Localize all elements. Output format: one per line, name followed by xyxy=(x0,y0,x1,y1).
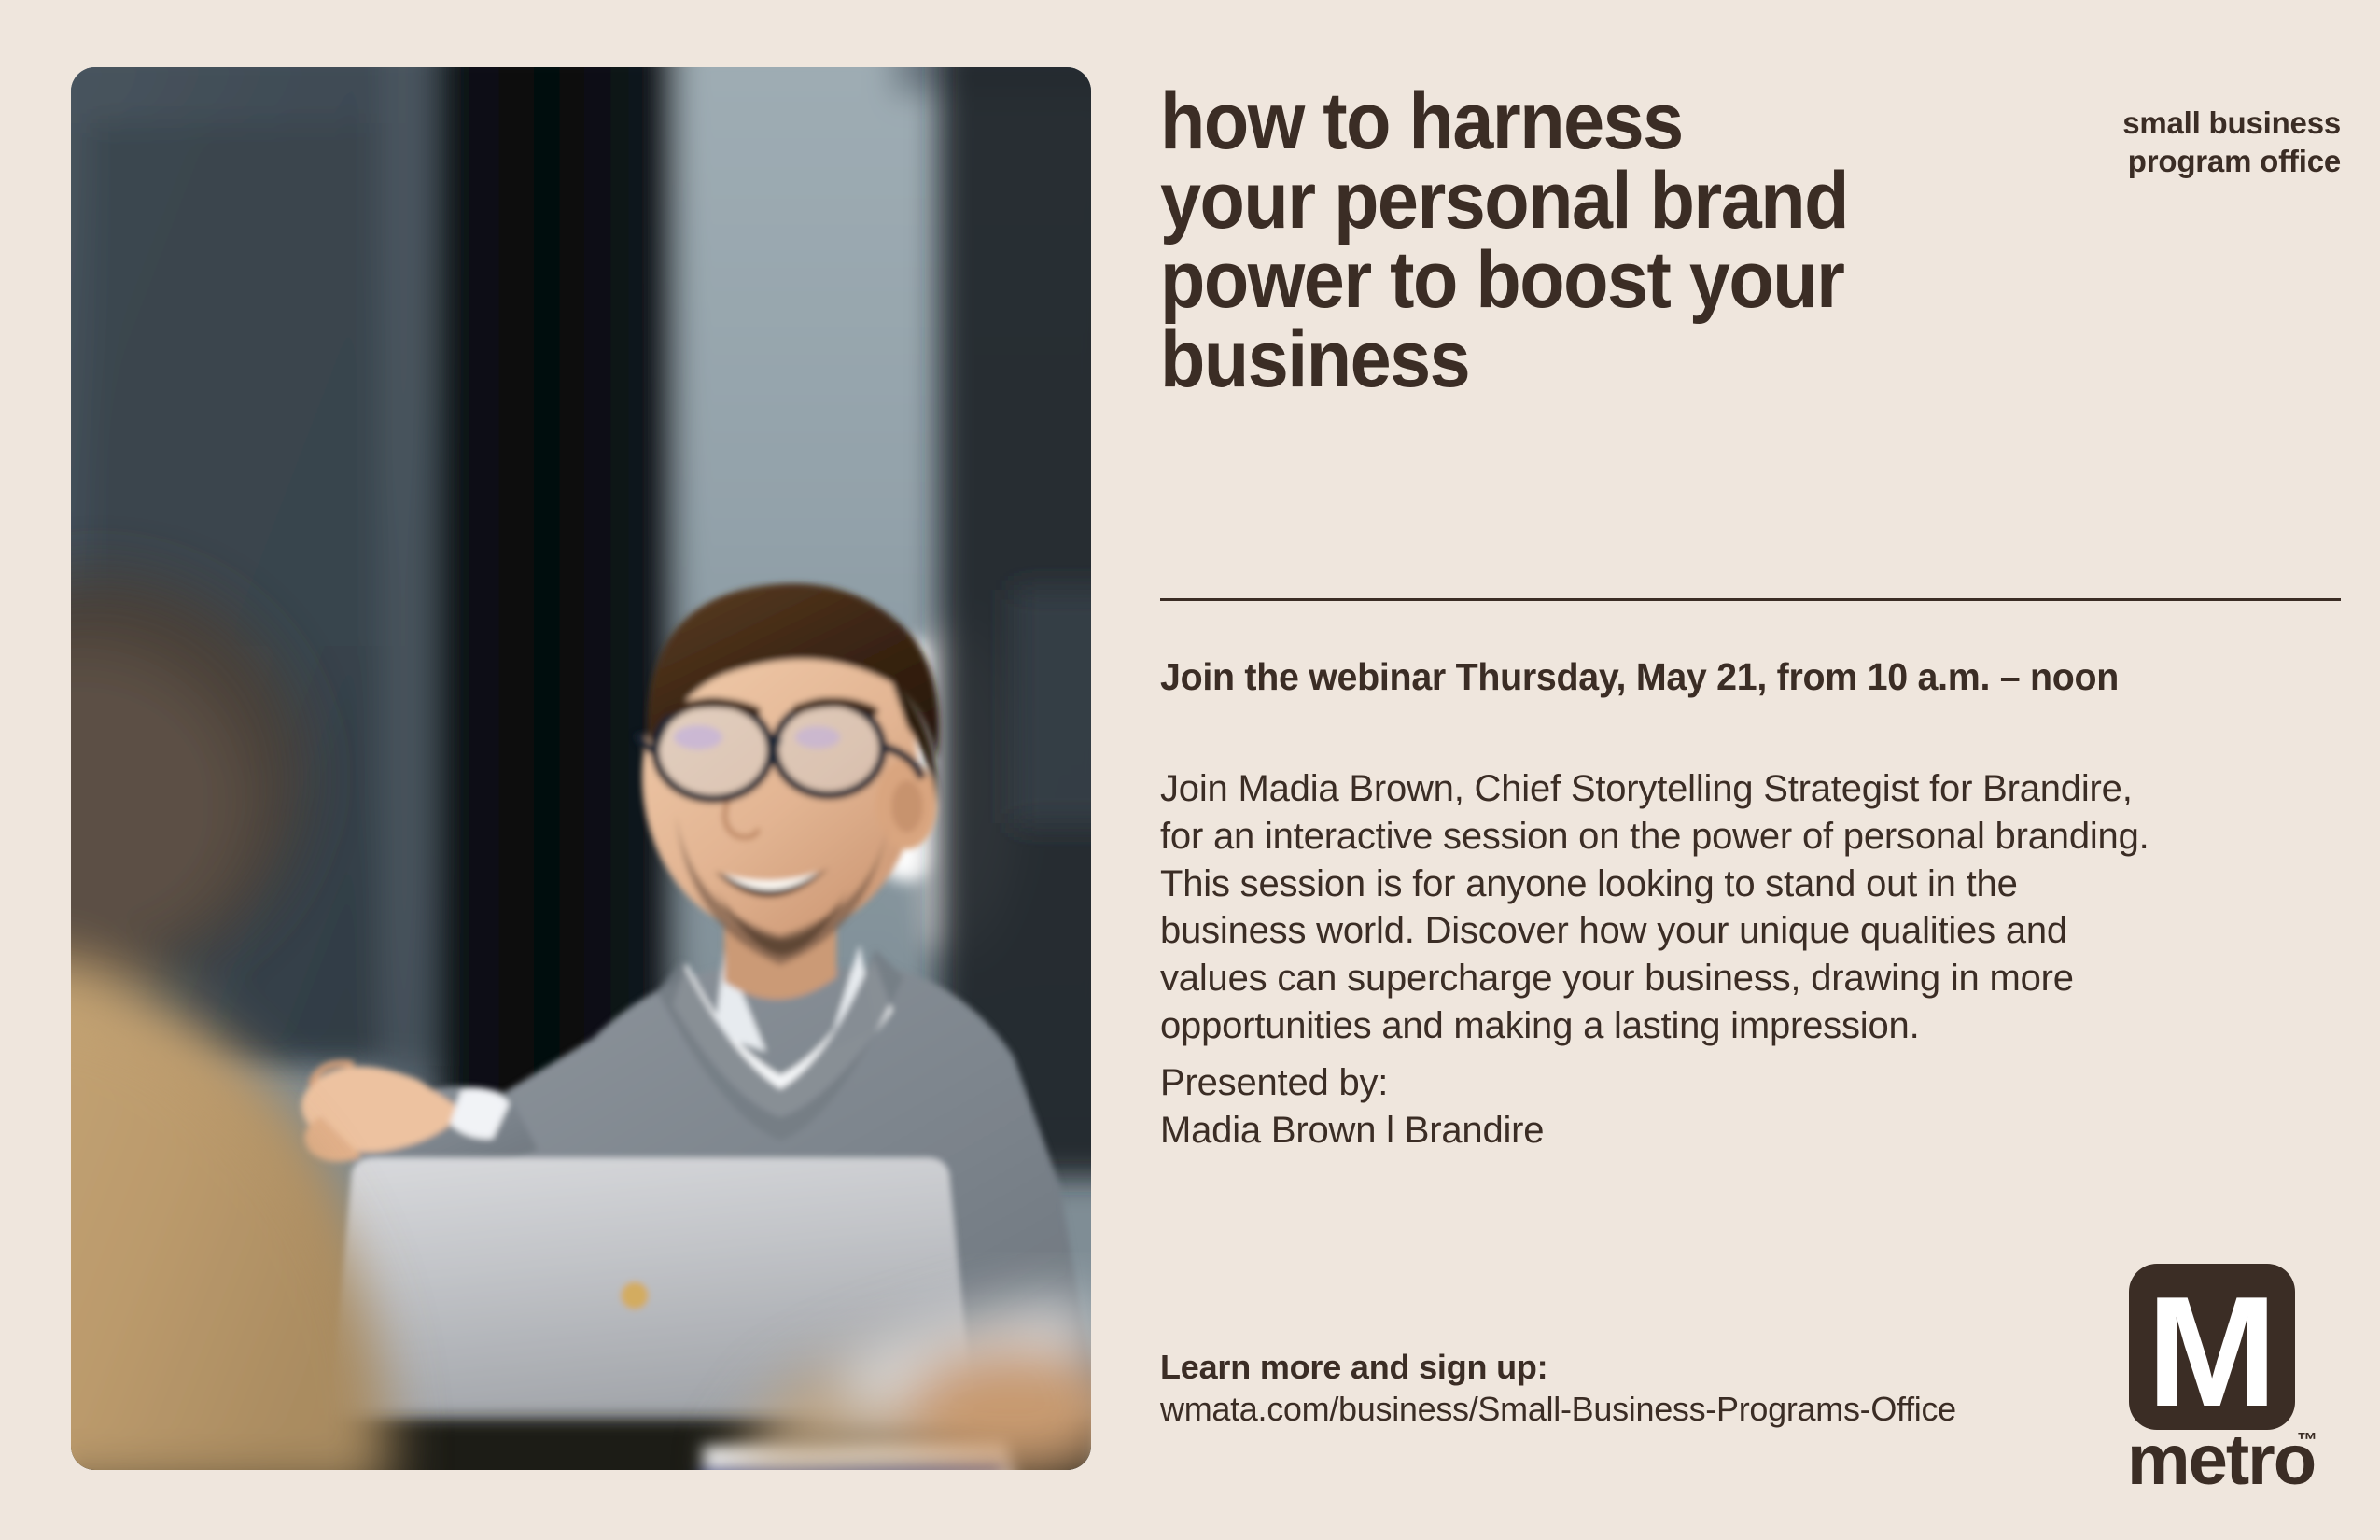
description-line-2: for an interactive session on the power … xyxy=(1160,813,2261,861)
signup-block: Learn more and sign up: wmata.com/busine… xyxy=(1160,1346,2233,1431)
webinar-datetime: Join the webinar Thursday, May 21, from … xyxy=(1160,655,2325,699)
hero-photo-illustration xyxy=(71,67,1091,1470)
metro-wordmark: metro xyxy=(2127,1421,2315,1488)
section-divider xyxy=(1160,598,2341,601)
description-line-6: opportunities and making a lasting impre… xyxy=(1160,1002,2261,1050)
signup-url[interactable]: wmata.com/business/Small-Business-Progra… xyxy=(1160,1388,2233,1430)
webinar-description: Join Madia Brown, Chief Storytelling Str… xyxy=(1160,765,2261,1050)
flyer-canvas: small business program office how to har… xyxy=(0,0,2380,1540)
description-line-5: values can supercharge your business, dr… xyxy=(1160,955,2261,1002)
eyebrow-line-2: program office xyxy=(2128,144,2341,178)
presented-by-label: Presented by: xyxy=(1160,1059,2261,1107)
headline-line-4: business xyxy=(1160,320,1890,399)
description-line-1: Join Madia Brown, Chief Storytelling Str… xyxy=(1160,765,2261,813)
description-line-3: This session is for anyone looking to st… xyxy=(1160,861,2261,908)
presenter-name: Madia Brown l Brandire xyxy=(1160,1107,2261,1155)
metro-logo: M metro ™ xyxy=(2127,1264,2325,1488)
headline-line-3: power to boost your xyxy=(1160,241,1890,320)
description-line-4: business world. Discover how your unique… xyxy=(1160,907,2261,955)
hero-photo xyxy=(71,67,1091,1470)
eyebrow-line-1: small business xyxy=(2122,105,2341,140)
presenter-block: Presented by: Madia Brown l Brandire xyxy=(1160,1059,2261,1155)
trademark-icon: ™ xyxy=(2297,1428,2317,1451)
metro-logo-letter: M xyxy=(2147,1264,2277,1439)
headline-line-1: how to harness xyxy=(1160,82,1890,161)
signup-label: Learn more and sign up: xyxy=(1160,1346,2233,1388)
metro-logo-svg: M metro ™ xyxy=(2127,1264,2325,1488)
headline-line-2: your personal brand xyxy=(1160,161,1890,241)
program-office-label: small business program office xyxy=(1949,105,2341,181)
page-title: how to harness your personal brand power… xyxy=(1160,82,1890,400)
